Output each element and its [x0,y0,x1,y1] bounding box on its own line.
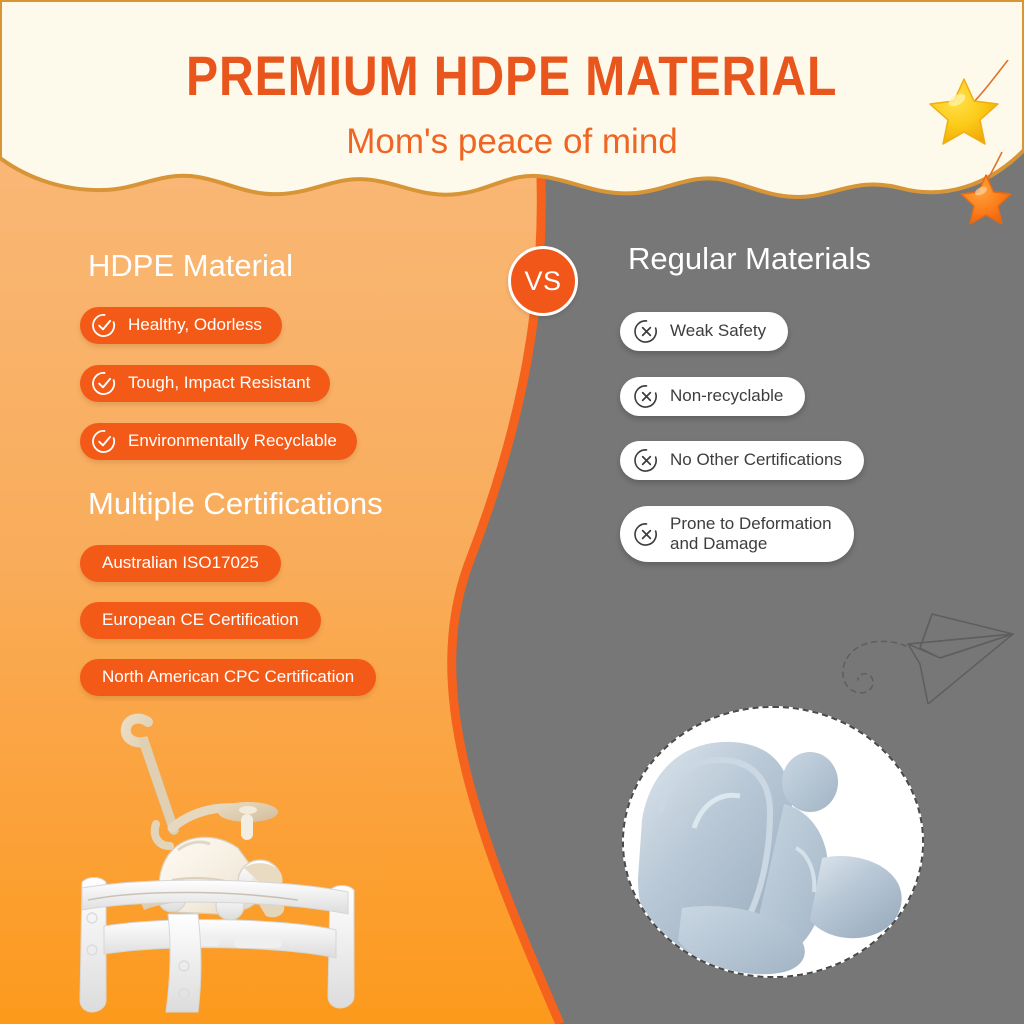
x-circle-icon [634,384,659,409]
x-circle-icon [634,522,659,547]
benefit-label: Environmentally Recyclable [128,431,337,451]
certification-pill-2: European CE Certification [80,602,321,639]
check-circle-icon [92,313,117,338]
benefit-pill-1: Healthy, Odorless [80,307,282,344]
certification-pill-1: Australian ISO17025 [80,545,281,582]
benefit-label: Tough, Impact Resistant [128,373,310,393]
certification-label: North American CPC Certification [102,667,354,687]
benefit-pill-3: Environmentally Recyclable [80,423,357,460]
drawback-label: Prone to Deformation and Damage [670,514,832,554]
benefit-label: Healthy, Odorless [128,315,262,335]
left-column-heading: HDPE Material [88,250,293,281]
drawback-label: No Other Certifications [670,450,842,470]
x-circle-icon [634,448,659,473]
header-banner: PREMIUM HDPE MATERIAL Mom's peace of min… [0,0,1024,215]
drawback-pill-4: Prone to Deformation and Damage [620,506,854,562]
material-closeup-photo [622,706,924,978]
page-title: PREMIUM HDPE MATERIAL [186,48,837,104]
hanging-stars-decoration [916,60,1024,240]
check-circle-icon [92,371,117,396]
product-ride-on-walker-photo [48,700,388,1024]
drawback-label: Non-recyclable [670,386,783,406]
certifications-heading: Multiple Certifications [88,488,383,519]
drawback-label: Weak Safety [670,321,766,341]
page-subtitle: Mom's peace of mind [346,124,678,159]
drawback-pill-1: Weak Safety [620,312,788,351]
check-circle-icon [92,429,117,454]
certification-pill-3: North American CPC Certification [80,659,376,696]
certification-label: Australian ISO17025 [102,553,259,573]
infographic-canvas: PREMIUM HDPE MATERIAL Mom's peace of min… [0,0,1024,1024]
drawback-pill-3: No Other Certifications [620,441,864,480]
benefit-pill-2: Tough, Impact Resistant [80,365,330,402]
certification-label: European CE Certification [102,610,299,630]
vs-badge-label: VS [524,266,561,297]
vs-badge: VS [508,246,578,316]
right-column-heading: Regular Materials [628,243,871,274]
drawback-pill-2: Non-recyclable [620,377,805,416]
paper-plane-decoration [828,588,1024,704]
x-circle-icon [634,319,659,344]
